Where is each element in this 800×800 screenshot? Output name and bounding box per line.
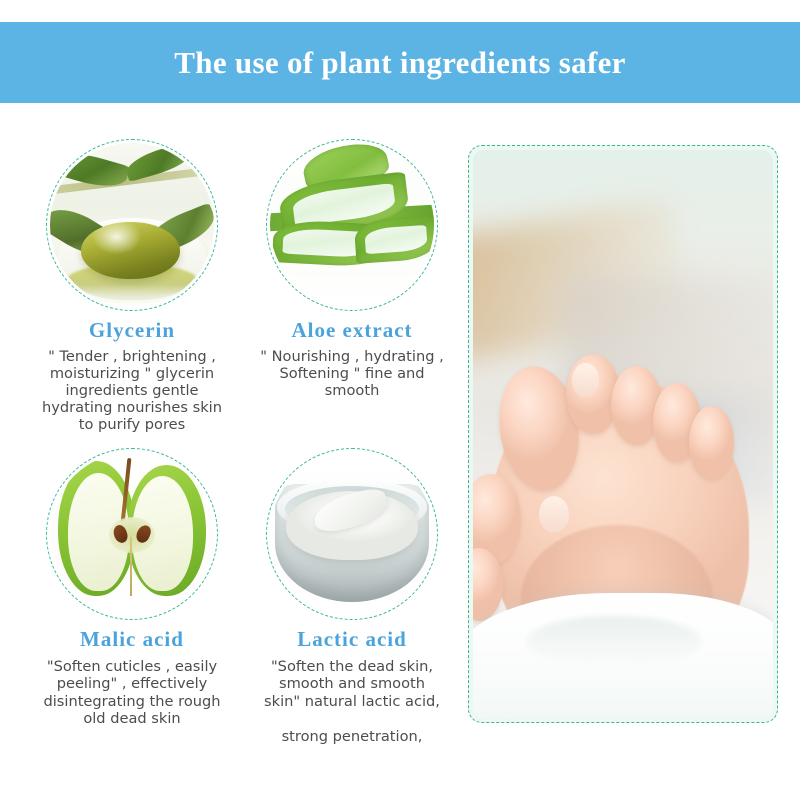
- sheet-fold-shape: [527, 616, 701, 667]
- ingredient-label-lactic-acid: Lactic acid: [248, 627, 456, 652]
- malic-circle-frame: [46, 448, 218, 620]
- baby-feet-photo: [473, 150, 773, 718]
- toenail-shape: [572, 363, 599, 397]
- glycerin-circle-frame: [46, 139, 218, 311]
- ingredient-description-lactic-acid: "Soften the dead skin, smooth and smooth…: [248, 658, 456, 746]
- aloe-vera-slices-photo: [270, 143, 434, 307]
- aloe-circle-frame: [266, 139, 438, 311]
- content-area: Glycerin " Tender , brightening , moistu…: [0, 103, 800, 800]
- ingredient-card-malic-acid: Malic acid "Soften cuticles , easily pee…: [22, 448, 242, 746]
- page-title: The use of plant ingredients safer: [174, 45, 625, 81]
- ingredient-label-malic-acid: Malic acid: [28, 627, 236, 652]
- baby-feet-panel: [468, 145, 778, 723]
- header-banner: The use of plant ingredients safer: [0, 22, 800, 103]
- ingredient-description-malic-acid: "Soften cuticles , easily peeling" , eff…: [28, 658, 236, 728]
- ingredient-card-aloe-extract: Aloe extract " Nourishing , hydrating , …: [242, 139, 462, 434]
- ingredient-row-top: Glycerin " Tender , brightening , moistu…: [22, 139, 462, 434]
- ingredient-label-aloe-extract: Aloe extract: [248, 318, 456, 343]
- lactic-circle-frame: [266, 448, 438, 620]
- apple-center-line-shape: [130, 537, 132, 596]
- olive-fruit-shape: [81, 222, 179, 279]
- olive-oil-photo: [50, 143, 214, 307]
- ingredient-card-lactic-acid: Lactic acid "Soften the dead skin, smoot…: [242, 448, 462, 746]
- ingredient-description-aloe-extract: " Nourishing , hydrating , Softening " f…: [248, 349, 456, 400]
- ingredient-description-glycerin: " Tender , brightening , moisturizing " …: [28, 349, 236, 434]
- cream-bowl-photo: [270, 452, 434, 616]
- green-apple-halved-photo: [50, 452, 214, 616]
- toe-shape: [689, 406, 734, 480]
- ingredient-label-glycerin: Glycerin: [28, 318, 236, 343]
- ingredient-card-glycerin: Glycerin " Tender , brightening , moistu…: [22, 139, 242, 434]
- ingredient-grid: Glycerin " Tender , brightening , moistu…: [22, 139, 462, 745]
- ingredient-row-bottom: Malic acid "Soften cuticles , easily pee…: [22, 448, 462, 746]
